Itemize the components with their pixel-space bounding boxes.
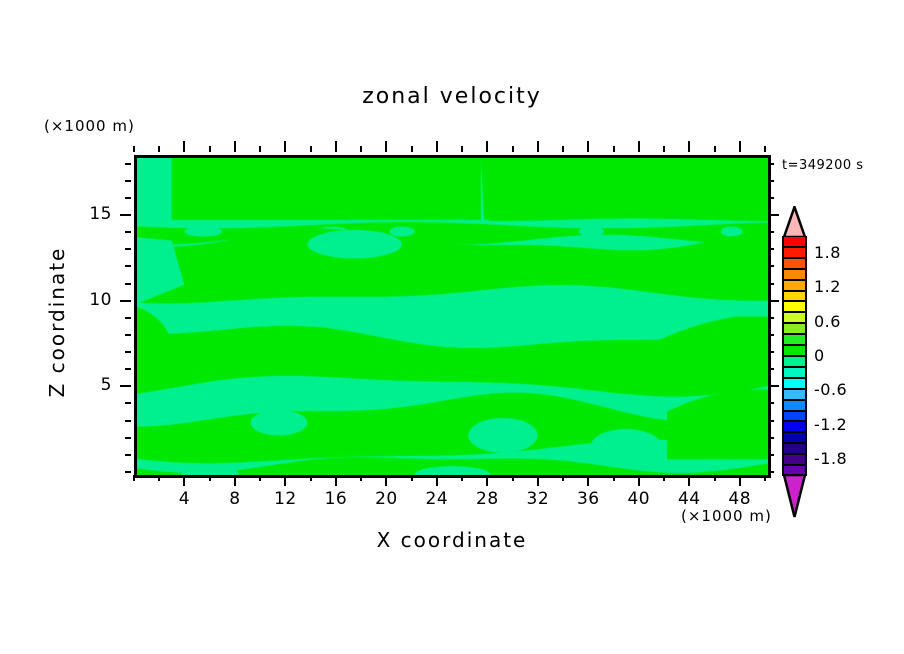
y-axis-minor-tick [125,248,131,250]
x-axis-minor-tick [411,146,413,152]
colorbar-band [782,280,807,291]
y-axis-major-tick [120,385,131,387]
colorbar-band [782,345,807,356]
x-axis-minor-tick [562,146,564,152]
y-axis-minor-tick [768,163,774,165]
y-axis-minor-tick [125,437,131,439]
x-axis-major-tick [183,475,185,486]
y-axis-minor-tick [768,471,774,473]
x-axis-minor-tick [714,475,716,481]
x-axis-major-tick [486,141,488,152]
x-axis-minor-tick [512,475,514,481]
colorbar-tick-label: -1.8 [814,449,847,468]
x-axis-major-tick [284,475,286,486]
x-axis-minor-tick [613,475,615,481]
x-axis-tick-label: 36 [565,489,611,509]
y-axis-minor-tick [125,317,131,319]
x-axis-major-tick [739,475,741,486]
y-axis-minor-tick [125,197,131,199]
y-axis-minor-tick [125,283,131,285]
x-axis-minor-tick [512,146,514,152]
x-axis-major-tick [688,141,690,152]
y-axis-major-tick [768,300,779,302]
y-axis-minor-tick [768,437,774,439]
x-axis-title: X coordinate [0,528,904,552]
y-axis-major-tick [768,214,779,216]
x-axis-minor-tick [764,146,766,152]
y-axis-major-tick [768,385,779,387]
colorbar-band [782,432,807,443]
x-axis-major-tick [638,475,640,486]
x-axis-major-tick [335,475,337,486]
x-axis-major-tick [234,141,236,152]
y-axis-minor-tick [768,265,774,267]
x-axis-minor-tick [562,475,564,481]
y-axis-minor-tick [768,317,774,319]
colorbar-band [782,291,807,302]
colorbar-tick-label: 0.6 [814,312,841,331]
x-axis-major-tick [537,475,539,486]
x-axis-major-tick [739,141,741,152]
x-axis-tick-label: 44 [666,489,712,509]
x-axis-tick-label: 40 [616,489,662,509]
colorbar-band [782,400,807,411]
x-axis-minor-tick [209,475,211,481]
x-axis-minor-tick [158,146,160,152]
colorbar-under-arrow [782,474,807,518]
y-axis-major-tick [120,214,131,216]
x-axis-minor-tick [663,475,665,481]
y-axis-minor-tick [768,420,774,422]
y-axis-tick-label: 15 [72,204,112,224]
y-axis-minor-tick [768,402,774,404]
x-axis-minor-tick [259,146,261,152]
y-axis-major-tick [120,300,131,302]
x-axis-major-tick [587,141,589,152]
y-axis-minor-tick [125,368,131,370]
x-axis-minor-tick [133,475,135,481]
x-axis-major-tick [234,475,236,486]
x-axis-tick-label: 12 [262,489,308,509]
x-axis-major-tick [385,141,387,152]
y-axis-title: Z coordinate [45,227,69,417]
y-axis-minor-tick [125,420,131,422]
y-axis-unit-label: (×1000 m) [44,117,135,135]
x-axis-major-tick [385,475,387,486]
y-axis-minor-tick [768,197,774,199]
x-axis-unit-label: (×1000 m) [681,507,772,525]
x-axis-minor-tick [158,475,160,481]
y-axis-minor-tick [768,248,774,250]
colorbar-band [782,323,807,334]
x-axis-minor-tick [411,475,413,481]
x-axis-minor-tick [259,475,261,481]
y-axis-minor-tick [125,231,131,233]
x-axis-minor-tick [764,475,766,481]
x-axis-major-tick [486,475,488,486]
colorbar-band [782,334,807,345]
x-axis-major-tick [284,141,286,152]
colorbar-band [782,356,807,367]
y-axis-minor-tick [125,402,131,404]
y-axis-minor-tick [125,334,131,336]
colorbar-band [782,454,807,465]
y-axis-minor-tick [768,283,774,285]
x-axis-tick-label: 4 [161,489,207,509]
colorbar-band [782,421,807,432]
y-axis-minor-tick [768,334,774,336]
y-axis-minor-tick [768,454,774,456]
colorbar-band [782,411,807,422]
colorbar-band [782,301,807,312]
colorbar-tick-label: -0.6 [814,380,847,399]
y-axis-minor-tick [768,351,774,353]
colorbar-over-arrow [782,206,807,238]
colorbar-band [782,269,807,280]
colorbar-band [782,378,807,389]
x-axis-tick-label: 20 [363,489,409,509]
colorbar [782,236,807,476]
y-axis-tick-label: 5 [72,375,112,395]
x-axis-tick-label: 28 [464,489,510,509]
x-axis-minor-tick [360,146,362,152]
y-axis-minor-tick [125,471,131,473]
colorbar-band [782,389,807,400]
x-axis-major-tick [335,141,337,152]
x-axis-tick-label: 32 [515,489,561,509]
colorbar-tick-label: 1.2 [814,277,841,296]
x-axis-tick-label: 8 [212,489,258,509]
y-axis-minor-tick [768,180,774,182]
colorbar-tick-label: -1.2 [814,415,847,434]
colorbar-band [782,367,807,378]
y-axis-minor-tick [768,368,774,370]
x-axis-minor-tick [461,146,463,152]
contour-field-canvas [137,158,768,475]
x-axis-major-tick [436,475,438,486]
y-axis-minor-tick [125,163,131,165]
colorbar-band [782,312,807,323]
x-axis-tick-label: 16 [313,489,359,509]
x-axis-minor-tick [613,146,615,152]
colorbar-tick-label: 0 [814,346,825,365]
x-axis-minor-tick [461,475,463,481]
colorbar-band [782,443,807,454]
colorbar-band [782,258,807,269]
figure: zonal velocity (×1000 m) (×1000 m) X coo… [0,0,904,654]
x-axis-minor-tick [310,146,312,152]
x-axis-tick-label: 48 [717,489,763,509]
x-axis-minor-tick [133,146,135,152]
contour-plot-area [134,155,771,478]
x-axis-tick-label: 24 [414,489,460,509]
time-annotation: t=349200 s [782,158,864,173]
x-axis-major-tick [688,475,690,486]
y-axis-minor-tick [125,454,131,456]
x-axis-minor-tick [310,475,312,481]
x-axis-minor-tick [663,146,665,152]
x-axis-major-tick [436,141,438,152]
x-axis-minor-tick [360,475,362,481]
x-axis-major-tick [183,141,185,152]
colorbar-band [782,247,807,258]
x-axis-major-tick [537,141,539,152]
y-axis-minor-tick [125,351,131,353]
x-axis-major-tick [587,475,589,486]
colorbar-band [782,236,807,247]
y-axis-minor-tick [125,180,131,182]
y-axis-minor-tick [768,231,774,233]
y-axis-minor-tick [125,265,131,267]
x-axis-minor-tick [209,146,211,152]
x-axis-major-tick [638,141,640,152]
page-title: zonal velocity [0,84,904,109]
colorbar-tick-label: 1.8 [814,243,841,262]
x-axis-minor-tick [714,146,716,152]
y-axis-tick-label: 10 [72,290,112,310]
